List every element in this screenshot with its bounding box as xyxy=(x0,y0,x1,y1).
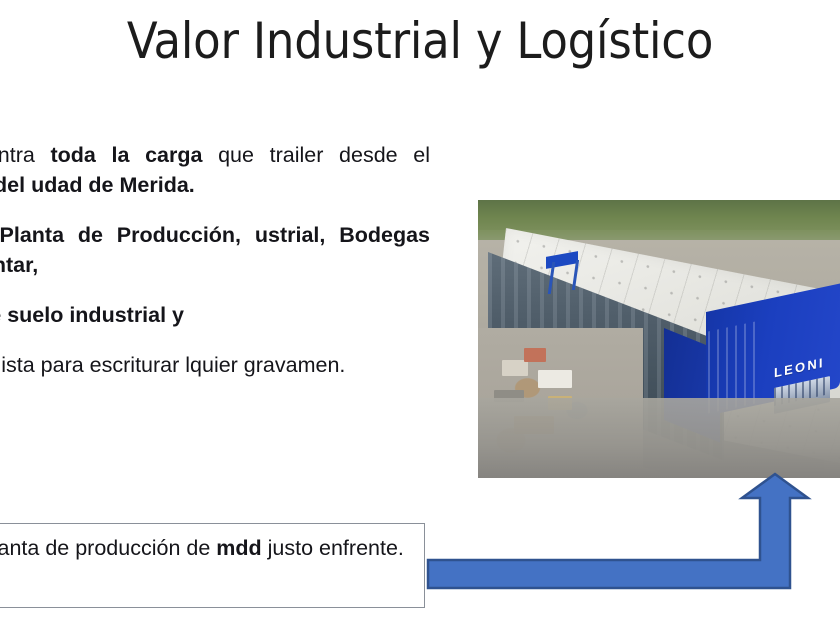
paragraph-2: CEDIS, Planta de Producción, ustrial, Bo… xyxy=(0,220,430,280)
photo-yard-structure xyxy=(538,370,572,388)
run-text: trailer desde el xyxy=(270,143,430,167)
body-text-block: retera entra toda la carga que trailer d… xyxy=(0,140,430,380)
run-text-bold: interior del xyxy=(0,173,25,197)
run-text-bold: udad de Merida. xyxy=(31,173,195,197)
slide-canvas: Valor Industrial y Logístico retera entr… xyxy=(0,0,840,630)
callout-text: e una planta de producción de mdd justo … xyxy=(0,533,412,563)
run-text-bold: uso de suelo industrial y xyxy=(0,303,184,327)
photo-yard-structure xyxy=(502,360,528,376)
run-text: e una planta de producción de xyxy=(0,536,216,560)
run-text: lquier gravamen. xyxy=(185,353,345,377)
run-text: retera entra xyxy=(0,143,50,167)
photo-apron-road xyxy=(478,398,840,478)
callout-box: e una planta de producción de mdd justo … xyxy=(0,523,425,608)
paragraph-1: retera entra toda la carga que trailer d… xyxy=(0,140,430,200)
warehouse-photo: LEONI xyxy=(478,200,840,478)
paragraph-4: privada lista para escriturar lquier gra… xyxy=(0,350,430,380)
bent-arrow-shape xyxy=(428,474,808,588)
photo-content: LEONI xyxy=(478,200,840,478)
photo-yard-structure xyxy=(524,348,546,362)
bent-arrow-icon xyxy=(424,470,816,592)
run-text: justo enfrente. xyxy=(262,536,404,560)
run-text: lista para escriturar xyxy=(0,353,185,377)
run-text-bold: CEDIS, Planta de Producción, ustrial, Bo… xyxy=(0,223,430,277)
page-title: Valor Industrial y Logístico xyxy=(0,14,840,69)
paragraph-3: n uso de suelo industrial y xyxy=(0,300,430,330)
run-text-bold: mdd xyxy=(216,536,261,560)
run-text: que xyxy=(202,143,269,167)
run-text-bold: toda la carga xyxy=(50,143,202,167)
